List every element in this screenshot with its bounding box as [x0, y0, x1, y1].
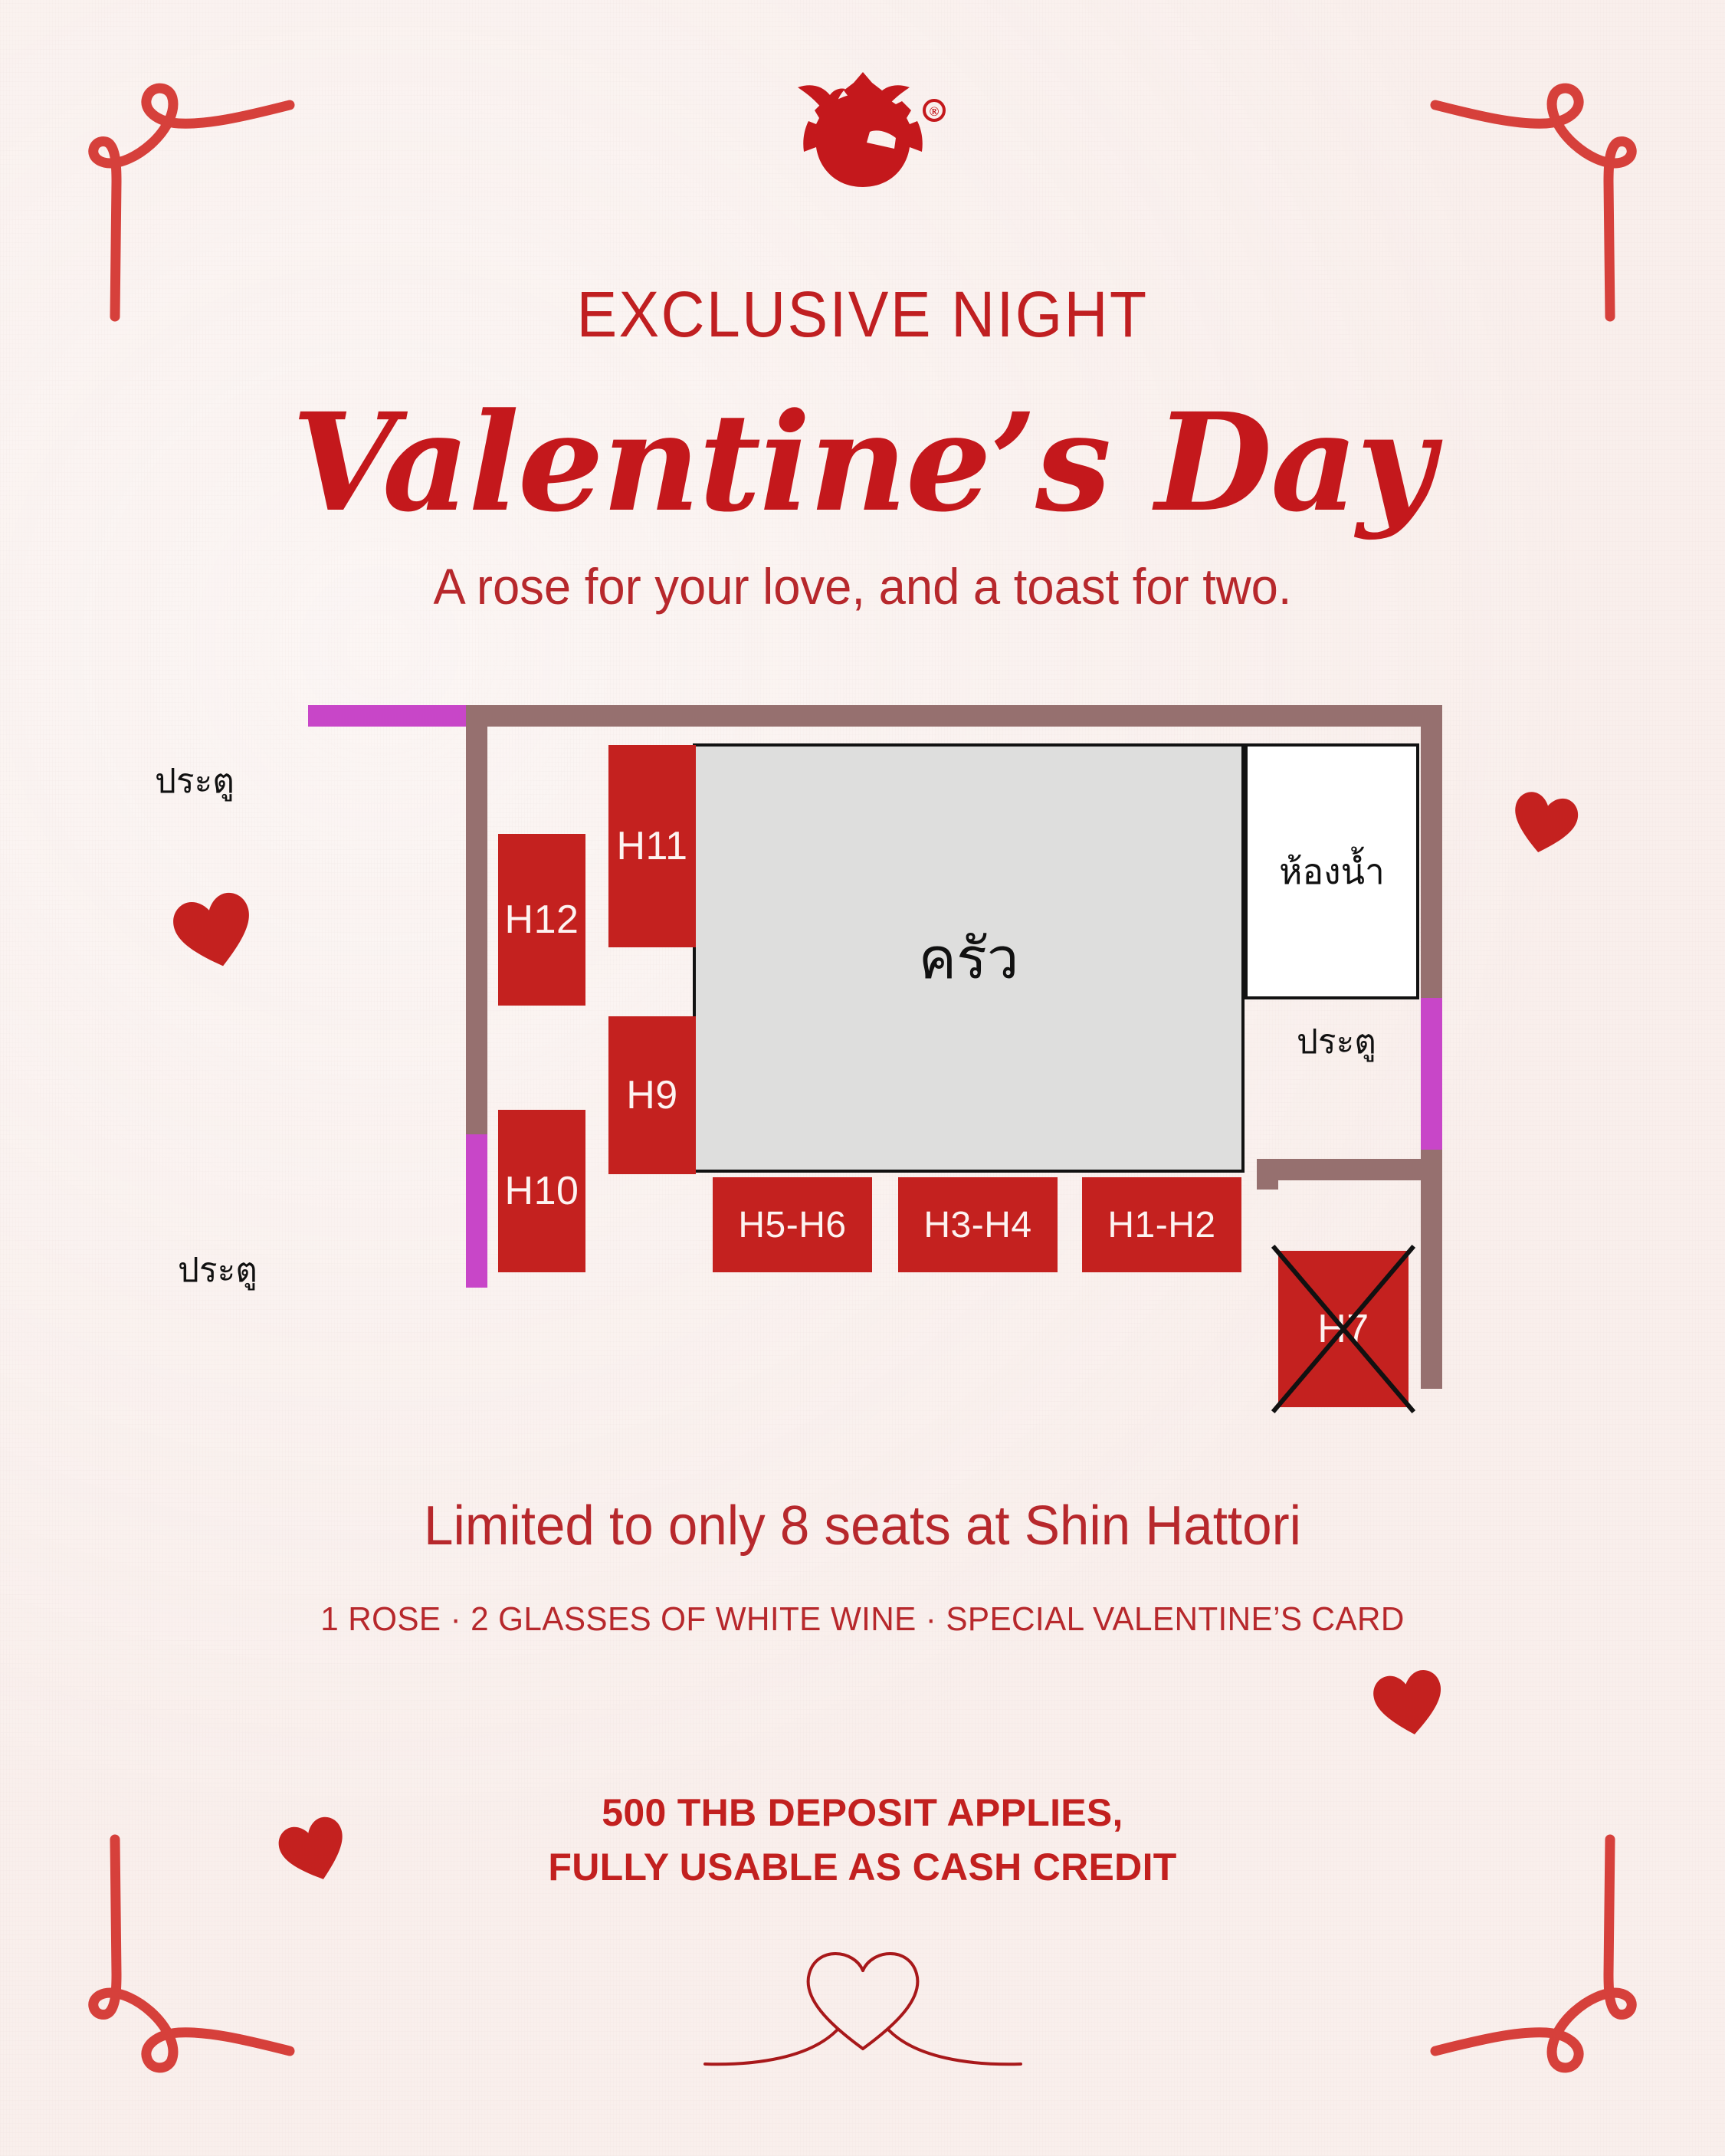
wall-left [466, 705, 487, 1134]
heart-line-flourish-icon [702, 1951, 1024, 2089]
table-label: H11 [616, 823, 687, 869]
door-top-left [308, 705, 466, 727]
solid-heart-icon [167, 887, 262, 977]
registered-trademark-glyph: ® [929, 104, 939, 119]
table-label: H3-H4 [923, 1204, 1031, 1246]
door-label-bottom-left: ประตู [178, 1243, 257, 1297]
wall-bottom-right [1257, 1159, 1442, 1180]
kitchen-label: ครัว [919, 913, 1019, 1003]
unavailable-cross-icon [1278, 1251, 1409, 1407]
seats-limit-text: Limited to only 8 seats at Shin Hattori [34, 1498, 1691, 1554]
table-label: H12 [505, 897, 579, 943]
table-H9[interactable]: H9 [608, 1016, 696, 1174]
table-H10[interactable]: H10 [498, 1110, 585, 1272]
wall-right-upper [1421, 705, 1442, 998]
wall-top [466, 705, 1442, 727]
corner-squiggle-bottom-left [77, 1838, 291, 2091]
wall-left-bay [1257, 1159, 1278, 1190]
table-H1-H2[interactable]: H1-H2 [1082, 1177, 1241, 1272]
door-label-top-left: ประตู [155, 754, 234, 808]
door-left-bottom [466, 1134, 487, 1288]
floor-plan-diagram: ประตู ประตู ประตู ครัว ห้องน้ำ H11 H12 H… [293, 705, 1442, 1441]
page-title: Valentine’s Day [0, 395, 1725, 530]
table-label: H9 [626, 1072, 677, 1118]
samurai-kabuto-mask-icon: ® [775, 71, 951, 201]
table-H5-H6[interactable]: H5-H6 [713, 1177, 872, 1272]
deposit-line-1: 500 THB DEPOSIT APPLIES, [0, 1786, 1725, 1840]
solid-heart-icon [1506, 787, 1583, 861]
solid-heart-icon [1369, 1665, 1450, 1743]
corner-squiggle-bottom-right [1434, 1838, 1648, 2091]
restroom-label: ห้องน้ำ [1279, 844, 1385, 900]
restroom-area: ห้องน้ำ [1245, 743, 1419, 999]
corner-squiggle-top-right [1434, 65, 1648, 318]
table-label: H10 [505, 1168, 579, 1214]
kitchen-area: ครัว [693, 743, 1245, 1173]
door-label-right: ประตู [1297, 1015, 1376, 1068]
corner-squiggle-top-left [77, 65, 291, 318]
table-H7-unavailable: H7 [1278, 1251, 1409, 1407]
inclusions-text: 1 ROSE · 2 GLASSES OF WHITE WINE · SPECI… [34, 1600, 1691, 1639]
door-right [1421, 998, 1442, 1150]
kicker-text: EXCLUSIVE NIGHT [52, 282, 1674, 346]
table-H11[interactable]: H11 [608, 745, 696, 947]
table-H12[interactable]: H12 [498, 834, 585, 1006]
subtitle-text: A rose for your love, and a toast for tw… [34, 558, 1691, 616]
table-H3-H4[interactable]: H3-H4 [898, 1177, 1058, 1272]
table-label: H5-H6 [738, 1204, 846, 1246]
wall-right-bay [1421, 1159, 1442, 1389]
table-label: H1-H2 [1107, 1204, 1215, 1246]
